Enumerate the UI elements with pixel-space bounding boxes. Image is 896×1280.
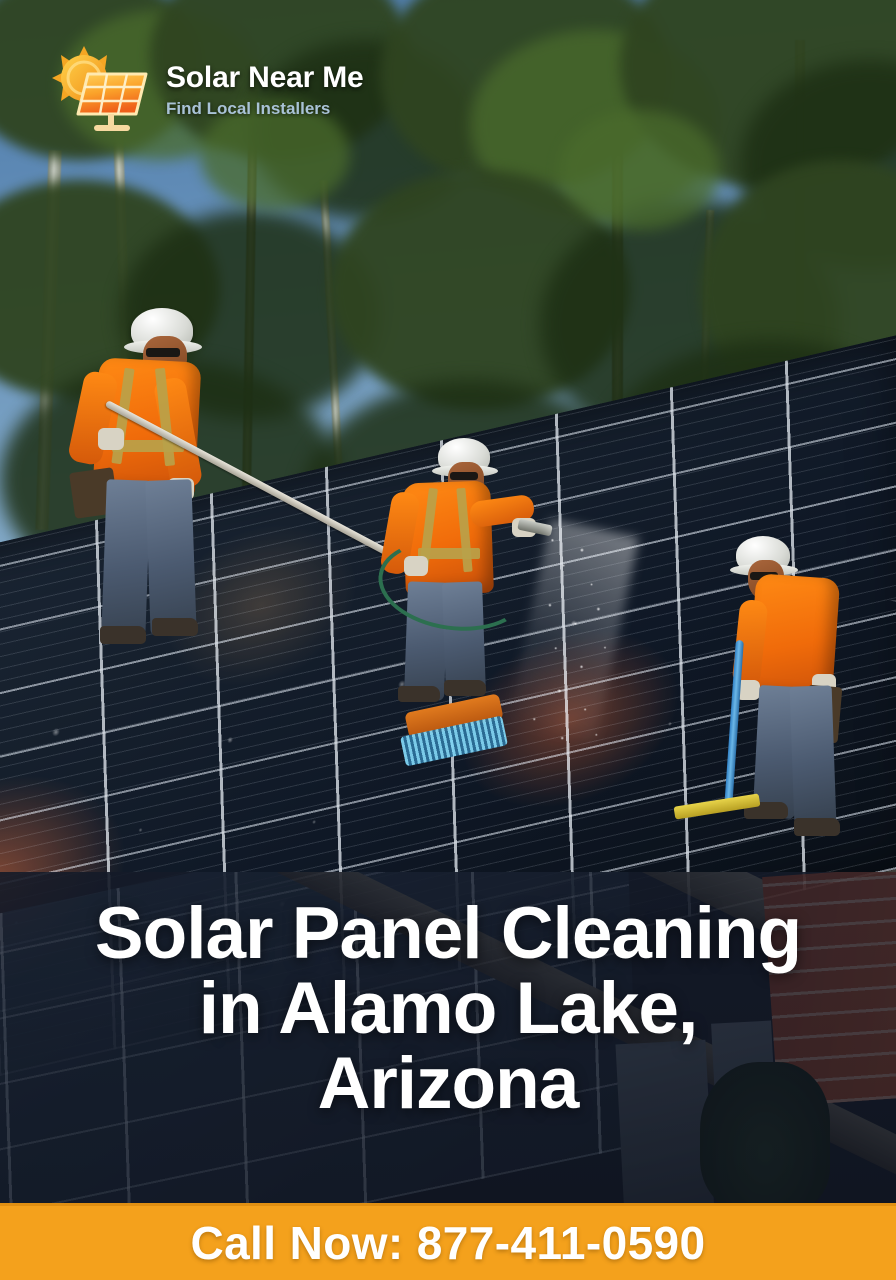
solar-cleaning-poster: Solar Near Me Find Local Installers Sola… [0, 0, 896, 1280]
work-boot [100, 626, 146, 644]
worker-pants [145, 479, 196, 636]
work-boot [398, 686, 440, 702]
sunglasses-icon [450, 472, 478, 480]
work-boot [152, 618, 198, 636]
sunglasses-icon [146, 348, 180, 357]
title-line-3: Arizona [16, 1046, 880, 1121]
page-title: Solar Panel Cleaning in Alamo Lake, Ariz… [0, 872, 896, 1122]
brand-tagline: Find Local Installers [166, 100, 363, 117]
sun-solar-panel-icon [42, 44, 152, 136]
work-boot [444, 680, 486, 696]
brand-name: Solar Near Me [166, 63, 363, 93]
call-now-label[interactable]: Call Now: 877-411-0590 [190, 1216, 705, 1270]
call-now-bar[interactable]: Call Now: 877-411-0590 [0, 1203, 896, 1280]
title-line-1: Solar Panel Cleaning [16, 896, 880, 971]
title-overlay-band: Solar Panel Cleaning in Alamo Lake, Ariz… [0, 872, 896, 1204]
title-line-2: in Alamo Lake, [16, 971, 880, 1046]
brand-logo[interactable]: Solar Near Me Find Local Installers [42, 44, 363, 136]
worker-pants [790, 685, 837, 824]
work-boot [794, 818, 840, 836]
work-glove [98, 428, 124, 450]
worker-pants [101, 479, 151, 640]
